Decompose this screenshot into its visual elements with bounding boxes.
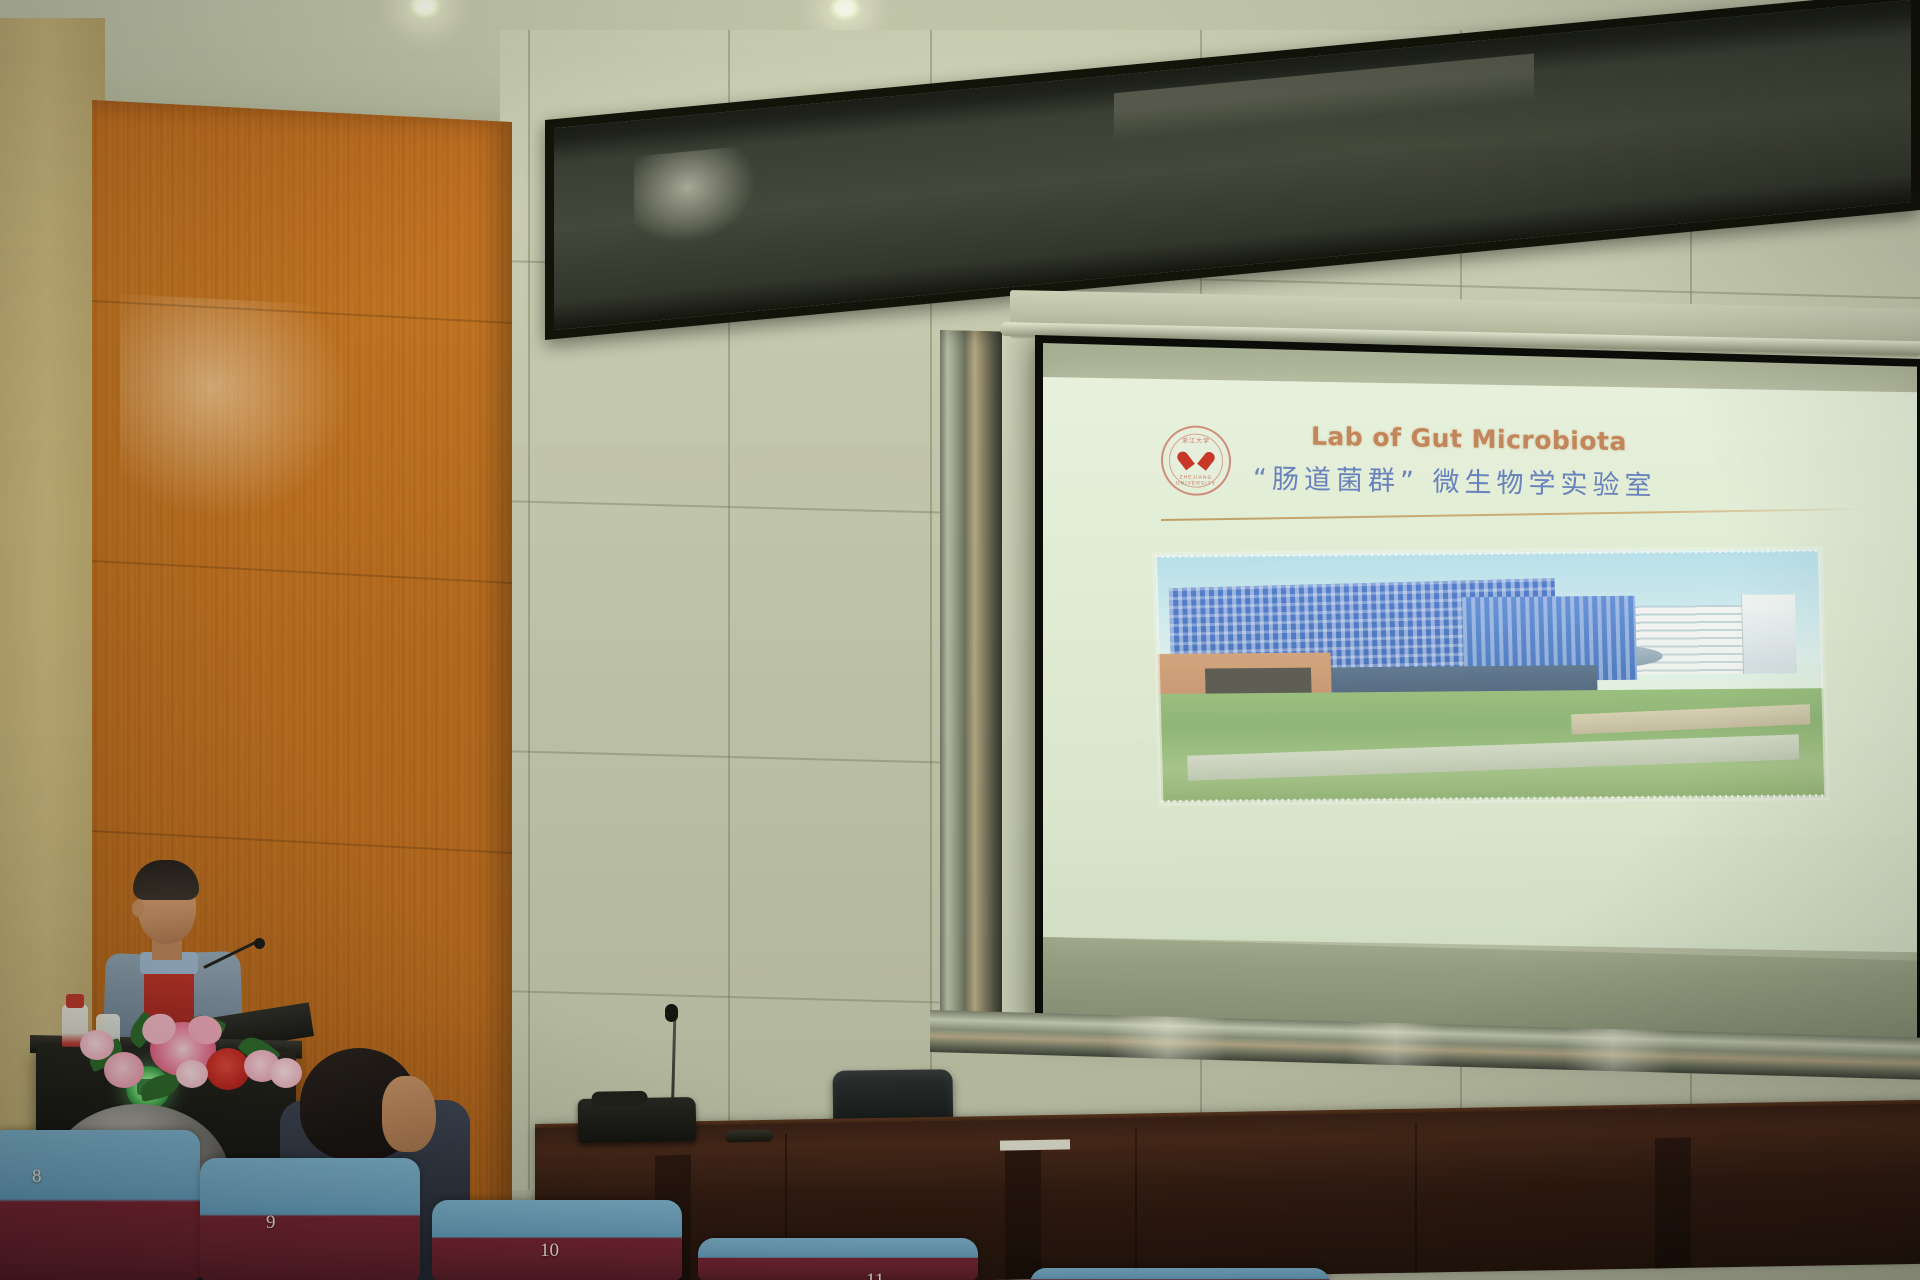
handheld-microphone xyxy=(725,1130,773,1143)
seat-11[interactable] xyxy=(698,1238,978,1280)
seat-right-edge[interactable] xyxy=(1030,1268,1330,1280)
presenter-ear xyxy=(132,900,144,917)
seat-10-number: 10 xyxy=(540,1240,559,1262)
presentation-slide: 浙江大学 ZHEJIANG UNIVERSITY Lab of Gut Micr… xyxy=(1043,377,1917,952)
papers xyxy=(1000,1139,1070,1150)
board-highlight xyxy=(634,145,754,246)
flower-rose xyxy=(80,1030,114,1060)
board-highlight xyxy=(1114,54,1534,142)
slide-title-chinese: “肠道菌群” 微生物学实验室 xyxy=(1253,457,1657,503)
attendee-dark-suit-face xyxy=(382,1076,436,1152)
desk-leg xyxy=(1655,1137,1691,1268)
seat-9-number: 9 xyxy=(266,1212,276,1234)
slide-title-english: Lab of Gut Microbiota xyxy=(1311,422,1627,457)
slide-header: 浙江大学 ZHEJIANG UNIVERSITY Lab of Gut Micr… xyxy=(1161,415,1841,519)
panel-seam xyxy=(528,30,530,1190)
title-divider xyxy=(1161,508,1866,521)
campus-photo xyxy=(1155,549,1826,803)
seal-top-text: 浙江大学 xyxy=(1163,435,1229,445)
flower-rose xyxy=(104,1052,144,1088)
projection-screen: 浙江大学 ZHEJIANG UNIVERSITY Lab of Gut Micr… xyxy=(1043,343,1917,1041)
projected-slide-area: 浙江大学 ZHEJIANG UNIVERSITY Lab of Gut Micr… xyxy=(1043,377,1917,952)
seat-8-number: 8 xyxy=(32,1166,42,1188)
desk-seam xyxy=(1415,1123,1417,1273)
seat-11-number: 11 xyxy=(866,1270,884,1280)
flower-rose xyxy=(270,1058,302,1088)
lecture-hall-photo: 浙江大学 ZHEJIANG UNIVERSITY Lab of Gut Micr… xyxy=(0,0,1920,1280)
stainless-steel-column xyxy=(940,330,1002,1032)
zhejiang-university-seal-icon: 浙江大学 ZHEJIANG UNIVERSITY xyxy=(1161,425,1231,496)
seat-9[interactable] xyxy=(200,1158,420,1280)
seal-bottom-text: ZHEJIANG UNIVERSITY xyxy=(1163,474,1229,487)
seal-heart-icon xyxy=(1185,449,1207,473)
desk-seam xyxy=(1135,1127,1137,1277)
flower-rose xyxy=(176,1060,208,1088)
desk-leg xyxy=(1005,1149,1041,1280)
microphone-head-icon xyxy=(665,1004,678,1022)
photo-torn-edge xyxy=(1155,549,1826,803)
laptop-bag xyxy=(578,1097,697,1143)
presenter-microphone-icon xyxy=(254,938,265,949)
seat-8[interactable] xyxy=(0,1130,200,1280)
flower-arrangement xyxy=(80,1000,310,1110)
presenter-hair xyxy=(133,860,199,900)
